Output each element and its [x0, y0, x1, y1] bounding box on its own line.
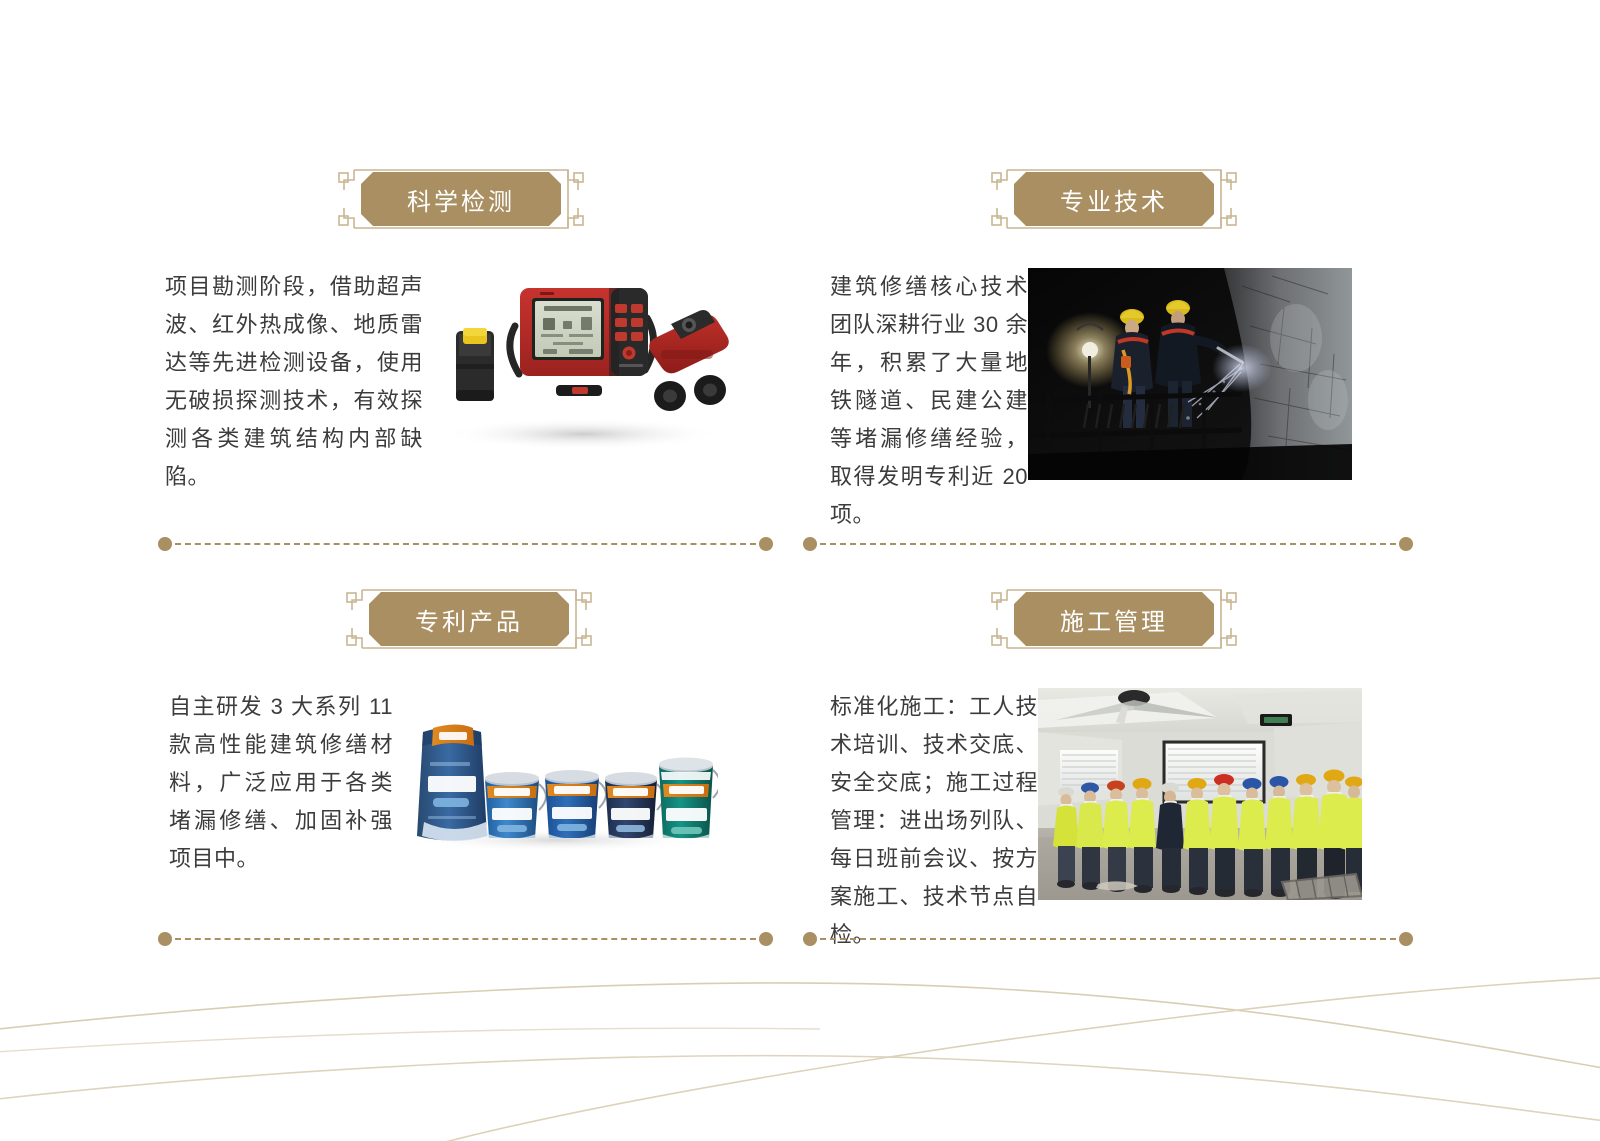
- divider-dash: [820, 938, 1396, 940]
- section-header-4: 施工管理: [985, 580, 1243, 658]
- sections-grid: 科学检测 项目勘测阶段，借助超声波、红外热成像、地质雷达等先进检测设备，使用无破…: [0, 0, 1600, 1141]
- section-professional-technology: 专业技术 建筑修缮核心技术团队深耕行业 30 余年，积累了大量地铁隧道、民建公建…: [800, 160, 1425, 560]
- section-body-text: 标准化施工：工人技术培训、技术交底、安全交底；施工过程管理：进出场列队、每日班前…: [800, 688, 1038, 954]
- divider-dash: [820, 543, 1396, 545]
- divider-dot-right: [759, 932, 773, 946]
- section-construction-management: 施工管理 标准化施工：工人技术培训、技术交底、安全交底；施工过程管理：进出场列队…: [800, 580, 1425, 955]
- divider-dot-right: [1399, 932, 1413, 946]
- divider-dot-right: [1399, 537, 1413, 551]
- section-content-3: 自主研发 3 大系列 11 款高性能建筑修缮材料，广泛应用于各类堵漏修缮、加固补…: [155, 688, 780, 878]
- section-badge-label: 专利产品: [369, 592, 569, 646]
- media-caption: 隧道内两名戴黄色安全帽的工人进行高压水射堵漏作业: [1028, 480, 1029, 481]
- section-media-1: 红外检测仪、便携收纳包与红色扫描仪: [423, 268, 743, 458]
- section-divider-1: [158, 537, 773, 551]
- divider-dot-left: [803, 537, 817, 551]
- section-media-2: 隧道内两名戴黄色安全帽的工人进行高压水射堵漏作业: [1028, 268, 1352, 480]
- divider-dot-left: [803, 932, 817, 946]
- section-badge-label: 施工管理: [1014, 592, 1214, 646]
- section-divider-4: [803, 932, 1413, 946]
- worker-lineup-photo: [1038, 688, 1362, 900]
- section-header-3: 专利产品: [340, 580, 598, 658]
- section-header-1: 科学检测: [332, 160, 590, 238]
- section-body-text: 项目勘测阶段，借助超声波、红外热成像、地质雷达等先进检测设备，使用无破损探测技术…: [155, 268, 423, 496]
- section-divider-2: [803, 537, 1413, 551]
- detection-equipment-photo: [423, 268, 743, 458]
- section-body-text: 自主研发 3 大系列 11 款高性能建筑修缮材料，广泛应用于各类堵漏修缮、加固补…: [155, 688, 393, 878]
- product-lineup-photo: [393, 688, 718, 853]
- divider-dot-left: [158, 932, 172, 946]
- media-caption: 身穿黄色反光背心、佩戴彩色安全帽的施工队伍列队: [1038, 900, 1039, 901]
- section-content-4: 标准化施工：工人技术培训、技术交底、安全交底；施工过程管理：进出场列队、每日班前…: [800, 688, 1425, 954]
- section-patented-products: 专利产品 自主研发 3 大系列 11 款高性能建筑修缮材料，广泛应用于各类堵漏修…: [155, 580, 780, 955]
- section-content-2: 建筑修缮核心技术团队深耕行业 30 余年，积累了大量地铁隧道、民建公建等堵漏修缮…: [800, 268, 1425, 534]
- section-divider-3: [158, 932, 773, 946]
- section-badge-label: 专业技术: [1014, 172, 1214, 226]
- section-content-1: 项目勘测阶段，借助超声波、红外热成像、地质雷达等先进检测设备，使用无破损探测技术…: [155, 268, 780, 496]
- section-header-2: 专业技术: [985, 160, 1243, 238]
- divider-dash: [175, 543, 756, 545]
- media-caption: 卓悦晶工 止水宝 / 修复宝 系列产品包装: [393, 853, 394, 854]
- divider-dash: [175, 938, 756, 940]
- infographic-page: 科学检测 项目勘测阶段，借助超声波、红外热成像、地质雷达等先进检测设备，使用无破…: [0, 0, 1600, 1141]
- divider-dot-left: [158, 537, 172, 551]
- section-media-4: 身穿黄色反光背心、佩戴彩色安全帽的施工队伍列队: [1038, 688, 1362, 900]
- section-body-text: 建筑修缮核心技术团队深耕行业 30 余年，积累了大量地铁隧道、民建公建等堵漏修缮…: [800, 268, 1028, 534]
- media-caption: 红外检测仪、便携收纳包与红色扫描仪: [423, 458, 424, 459]
- section-scientific-detection: 科学检测 项目勘测阶段，借助超声波、红外热成像、地质雷达等先进检测设备，使用无破…: [155, 160, 780, 560]
- section-media-3: 卓悦晶工 止水宝 / 修复宝 系列产品包装: [393, 688, 718, 853]
- section-badge-label: 科学检测: [361, 172, 561, 226]
- tunnel-repair-photo: [1028, 268, 1352, 480]
- divider-dot-right: [759, 537, 773, 551]
